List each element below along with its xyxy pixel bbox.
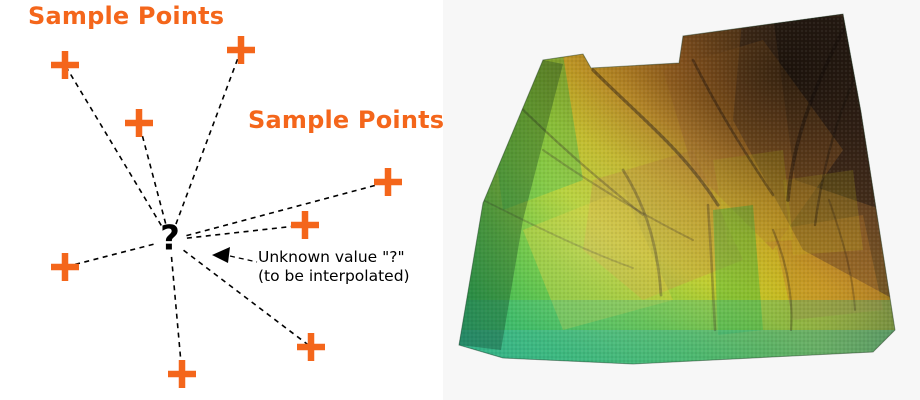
sample-point-marker	[227, 36, 255, 64]
connector-line-sp-right-near	[187, 225, 301, 238]
sample-points-diagram: ? Sample Points Sample Points Unknown va…	[0, 0, 443, 400]
connector-line-sp-upper-right	[176, 54, 240, 224]
sample-point-marker	[374, 168, 402, 196]
sample-point-marker	[125, 109, 153, 137]
sample-point-marker	[168, 360, 196, 388]
connector-line-sp-upper-left	[67, 68, 161, 225]
interpolation-connector-lines	[67, 54, 384, 370]
sample-point-marker	[291, 211, 319, 239]
connector-line-sp-left	[69, 244, 154, 266]
callout-line-2: (to be interpolated)	[258, 267, 410, 286]
sample-points-label-top-left: Sample Points	[28, 4, 224, 28]
sample-point-marker	[297, 333, 325, 361]
dem-terrain-body	[443, 0, 920, 400]
sample-points-label-right: Sample Points	[248, 108, 444, 132]
sample-point-marker	[51, 253, 79, 281]
callout-line-1: Unknown value "?"	[258, 248, 410, 267]
sample-point-marker	[51, 51, 79, 79]
dem-surface-panel	[443, 0, 920, 400]
connector-line-sp-bottom	[172, 257, 182, 370]
figure-canvas: ? Sample Points Sample Points Unknown va…	[0, 0, 920, 400]
unknown-value-callout: Unknown value "?" (to be interpolated)	[258, 248, 410, 286]
sample-points-svg: ?	[0, 0, 443, 400]
unknown-value-question-mark: ?	[160, 219, 180, 259]
dem-surface-svg	[443, 0, 920, 400]
callout-arrow-icon	[212, 247, 257, 263]
connector-line-sp-mid-upper	[140, 127, 166, 224]
